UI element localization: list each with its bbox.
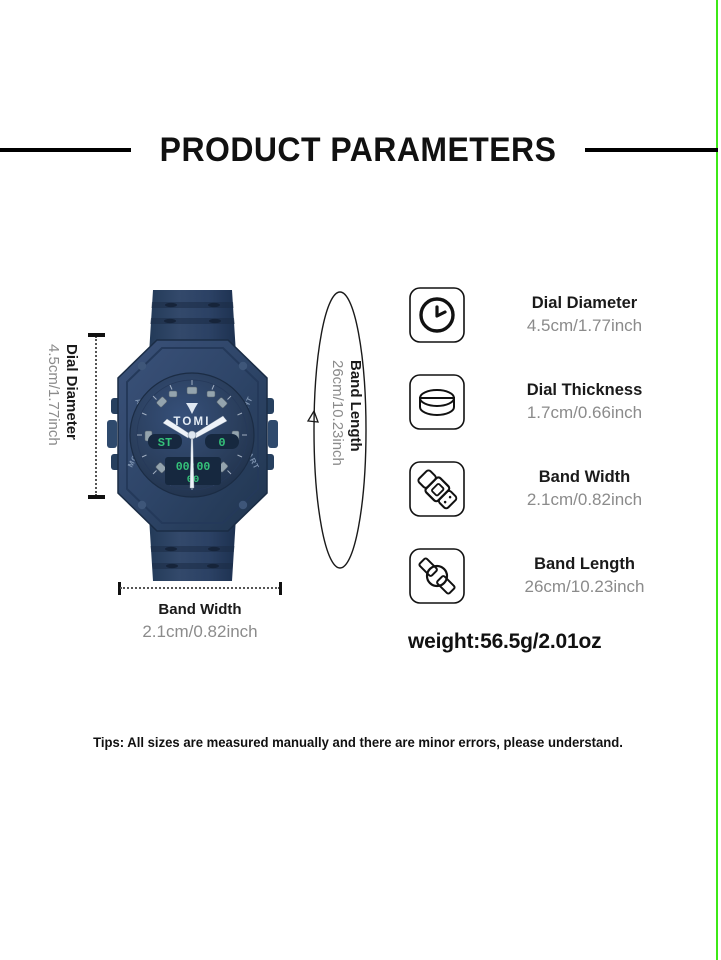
spec-text-dial-diameter: Dial Diameter 4.5cm/1.77inch [483,292,698,338]
spec-value-dial-thickness: 1.7cm/0.66inch [483,401,686,425]
band-width-dimension: Band Width 2.1cm/0.82inch [110,582,290,644]
band-length-value: 26cm/10.23inch [329,360,346,466]
spec-row-dial-thickness: Dial Thickness 1.7cm/0.66inch [408,369,698,435]
band-length-arrowhead [308,411,318,422]
dial-diameter-value: 4.5cm/1.77inch [45,344,62,446]
spec-text-band-length: Band Length 26cm/10.23inch [483,553,698,599]
dial-diameter-label: Dial Diameter [63,344,80,440]
spec-label-band-length: Band Length [483,553,686,575]
dial-diameter-dotted-line [95,336,97,496]
spec-text-dial-thickness: Dial Thickness 1.7cm/0.66inch [483,379,698,425]
band-width-label: Band Width [110,600,290,620]
spec-value-band-width: 2.1cm/0.82inch [483,488,686,512]
spec-label-dial-thickness: Dial Thickness [483,379,686,401]
spec-value-band-length: 26cm/10.23inch [483,575,686,599]
specification-list: Dial Diameter 4.5cm/1.77inch Dial Thickn… [408,282,698,630]
spec-row-band-length: Band Length 26cm/10.23inch [408,543,698,609]
watch-lcd-left: ST [148,434,182,450]
watch-dial-icon [408,286,466,344]
spec-row-band-width: Band Width 2.1cm/0.82inch [408,456,698,522]
page-title-block: PRODUCT PARAMETERS [0,126,716,174]
band-width-value: 2.1cm/0.82inch [110,620,290,644]
title-rule-left [0,148,131,152]
spec-row-dial-diameter: Dial Diameter 4.5cm/1.77inch [408,282,698,348]
title-rule-right [585,148,718,152]
spec-label-band-width: Band Width [483,466,686,488]
band-width-cap-right [279,582,282,595]
spec-value-dial-diameter: 4.5cm/1.77inch [483,314,686,338]
band-width-strap-icon [408,460,466,518]
weight-text: weight:56.5g/2.01oz [408,630,601,654]
band-width-measure-bar [118,582,282,594]
band-length-dimension: Band Length 26cm/10.23inch [288,288,388,573]
band-length-label: Band Length [347,360,364,452]
band-width-dotted-line [120,587,280,589]
watch-brand-text: TOMI [173,416,210,428]
svg-text:0: 0 [218,436,225,450]
spec-text-band-width: Band Width 2.1cm/0.82inch [483,466,698,512]
dial-diameter-cap-top [88,333,105,337]
accent-edge-line [716,0,718,960]
dial-diameter-dimension: Dial Diameter 4.5cm/1.77inch [52,330,110,510]
dial-diameter-cap-bottom [88,495,105,499]
dial-thickness-puck-icon [408,373,466,431]
watch-illustration: ADJUST LIGHT MODE START [95,288,290,583]
product-parameters-page: PRODUCT PARAMETERS [0,0,721,960]
svg-text:ST: ST [158,436,172,450]
watch-lcd-right: 0 [205,434,239,450]
watch-dial: TOMI ST 0 00:00 00 [130,373,254,497]
page-title: PRODUCT PARAMETERS [160,131,557,170]
spec-label-dial-diameter: Dial Diameter [483,292,686,314]
band-length-strap-icon [408,547,466,605]
footer-tip: Tips: All sizes are measured manually an… [11,735,706,750]
